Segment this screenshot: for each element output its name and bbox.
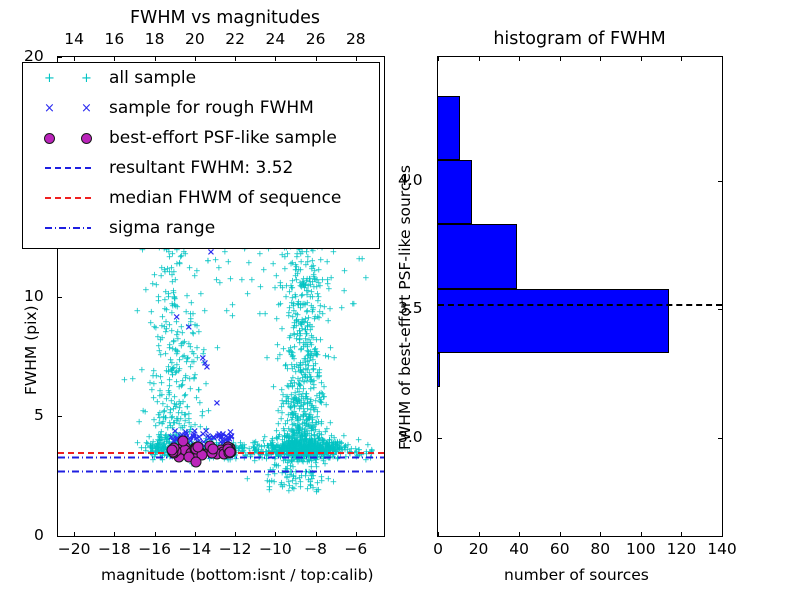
scatter-point-all-sample: +: [141, 408, 149, 417]
histogram-x-tick-label: 100: [622, 540, 660, 558]
scatter-point-all-sample: +: [185, 416, 193, 425]
legend-key-dashed-red: [31, 197, 105, 199]
histogram-title: histogram of FWHM: [437, 29, 722, 49]
scatter-point-all-sample: +: [199, 409, 207, 418]
scatter-point-all-sample: +: [215, 265, 223, 274]
scatter-point-all-sample: +: [275, 302, 283, 311]
scatter-point-all-sample: +: [281, 254, 289, 263]
legend-label: best-effort PSF-like sample: [105, 128, 337, 148]
scatter-top-tick-label: 18: [144, 30, 166, 48]
scatter-point-all-sample: +: [309, 248, 317, 257]
scatter-point-all-sample: +: [291, 320, 299, 329]
scatter-xlabel: magnitude (bottom:isnt / top:calib): [101, 566, 374, 584]
legend-key-plus: ++: [31, 72, 105, 85]
scatter-point-all-sample: +: [216, 280, 224, 289]
scatter-point-all-sample: +: [170, 288, 178, 297]
scatter-bottom-tick-label: −10: [256, 540, 294, 558]
legend-item-5: sigma range: [23, 213, 379, 243]
matplotlib-figure: FWHM vs magnitudes 1416182022242628 −20−…: [0, 0, 800, 600]
legend-item-4: median FHWM of sequence: [23, 183, 379, 213]
scatter-point-all-sample: +: [221, 248, 229, 257]
scatter-point-all-sample: +: [299, 301, 307, 310]
scatter-point-all-sample: +: [283, 394, 291, 403]
scatter-point-all-sample: +: [312, 361, 320, 370]
scatter-point-all-sample: +: [341, 267, 349, 276]
legend-item-3: resultant FWHM: 3.52: [23, 153, 379, 183]
scatter-point-all-sample: +: [197, 291, 205, 300]
histogram-refline-0: [438, 304, 722, 306]
scatter-point-all-sample: +: [315, 280, 323, 289]
scatter-point-rough-sample: ×: [185, 323, 193, 333]
scatter-point-all-sample: +: [152, 282, 160, 291]
scatter-point-all-sample: +: [270, 383, 278, 392]
scatter-point-all-sample: +: [142, 286, 150, 295]
histogram-x-tick-label: 120: [662, 540, 700, 558]
scatter-point-all-sample: +: [152, 325, 160, 334]
scatter-bottom-tick-label: −18: [95, 540, 133, 558]
scatter-point-all-sample: +: [282, 361, 290, 370]
scatter-point-all-sample: +: [158, 391, 166, 400]
cross-marker-icon: ×: [81, 102, 92, 115]
histogram-x-tick-label: 60: [541, 540, 579, 558]
dashdot-blue-line-icon: [45, 227, 91, 229]
scatter-point-all-sample: +: [286, 334, 294, 343]
scatter-point-all-sample: +: [147, 309, 155, 318]
histogram-x-tick-label: 40: [500, 540, 538, 558]
scatter-bottom-tick-label: −6: [337, 540, 375, 558]
scatter-point-all-sample: +: [260, 267, 268, 276]
scatter-point-all-sample: +: [304, 323, 312, 332]
scatter-point-all-sample: +: [202, 381, 210, 390]
scatter-point-all-sample: +: [155, 342, 163, 351]
scatter-point-all-sample: +: [317, 390, 325, 399]
legend-item-0: ++all sample: [23, 63, 379, 93]
scatter-top-tick-label: 26: [305, 30, 327, 48]
plus-marker-icon: +: [81, 72, 92, 85]
scatter-point-all-sample: +: [261, 310, 269, 319]
scatter-top-tick-label: 14: [63, 30, 85, 48]
scatter-ylabel: FWHM (pix): [22, 305, 40, 395]
scatter-point-all-sample: +: [299, 411, 307, 420]
scatter-point-all-sample: +: [325, 286, 333, 295]
scatter-point-all-sample: +: [157, 273, 165, 282]
scatter-point-all-sample: +: [183, 403, 191, 412]
scatter-point-all-sample: +: [227, 275, 235, 284]
scatter-point-all-sample: +: [307, 374, 315, 383]
legend-label: resultant FWHM: 3.52: [105, 158, 293, 178]
scatter-point-all-sample: +: [292, 272, 300, 281]
scatter-point-all-sample: +: [177, 254, 185, 263]
legend-key-dashdot-blue: [31, 227, 105, 229]
scatter-top-tick-label: 20: [184, 30, 206, 48]
scatter-point-all-sample: +: [306, 279, 314, 288]
scatter-point-all-sample: +: [282, 294, 290, 303]
scatter-point-all-sample: +: [310, 384, 318, 393]
scatter-point-all-sample: +: [166, 344, 174, 353]
scatter-point-all-sample: +: [323, 259, 331, 268]
scatter-point-all-sample: +: [268, 477, 276, 486]
legend-key-dashed-blue: [31, 167, 105, 169]
scatter-point-all-sample: +: [350, 301, 358, 310]
scatter-point-all-sample: +: [243, 475, 251, 484]
scatter-point-all-sample: +: [204, 258, 212, 267]
scatter-point-all-sample: +: [129, 375, 137, 384]
scatter-point-all-sample: +: [263, 355, 271, 364]
scatter-point-all-sample: +: [175, 384, 183, 393]
scatter-point-all-sample: +: [190, 375, 198, 384]
scatter-point-all-sample: +: [187, 311, 195, 320]
scatter-point-all-sample: +: [165, 364, 173, 373]
scatter-point-all-sample: +: [179, 339, 187, 348]
scatter-point-all-sample: +: [308, 402, 316, 411]
scatter-point-all-sample: +: [159, 418, 167, 427]
scatter-point-all-sample: +: [330, 479, 338, 488]
histogram-bar: [438, 353, 440, 386]
scatter-point-all-sample: +: [274, 356, 282, 365]
scatter-point-all-sample: +: [187, 300, 195, 309]
scatter-top-tick-label: 24: [264, 30, 286, 48]
scatter-point-all-sample: +: [223, 308, 231, 317]
scatter-point-all-sample: +: [174, 349, 182, 358]
legend-item-1: ××sample for rough FWHM: [23, 93, 379, 123]
scatter-point-all-sample: +: [121, 376, 129, 385]
scatter-point-all-sample: +: [133, 308, 141, 317]
scatter-point-all-sample: +: [278, 326, 286, 335]
histogram-data-area: [438, 57, 722, 536]
histogram-bar: [438, 224, 517, 288]
scatter-point-all-sample: +: [187, 343, 195, 352]
scatter-point-all-sample: +: [193, 394, 201, 403]
scatter-point-all-sample: +: [289, 374, 297, 383]
scatter-point-all-sample: +: [245, 259, 253, 268]
scatter-bottom-tick-label: −16: [136, 540, 174, 558]
scatter-left-tick-label: 0: [34, 526, 44, 544]
dashed-red-line-icon: [45, 197, 91, 199]
scatter-point-all-sample: +: [201, 308, 209, 317]
scatter-bottom-tick-label: −12: [216, 540, 254, 558]
scatter-point-all-sample: +: [292, 310, 300, 319]
scatter-point-rough-sample: ×: [207, 248, 215, 258]
scatter-point-rough-sample: ×: [203, 363, 211, 373]
scatter-bottom-tick-label: −14: [176, 540, 214, 558]
scatter-point-all-sample: +: [244, 290, 252, 299]
scatter-point-all-sample: +: [315, 315, 323, 324]
scatter-point-all-sample: +: [273, 316, 281, 325]
scatter-top-tick-label: 16: [103, 30, 125, 48]
scatter-point-all-sample: +: [326, 305, 334, 314]
scatter-point-all-sample: +: [362, 275, 370, 284]
circle-marker-icon: [81, 133, 92, 144]
histogram-x-tick-label: 140: [703, 540, 741, 558]
scatter-point-all-sample: +: [272, 273, 280, 282]
scatter-point-all-sample: +: [338, 305, 346, 314]
scatter-point-all-sample: +: [158, 380, 166, 389]
scatter-point-all-sample: +: [224, 259, 232, 268]
scatter-point-psf-sample: [207, 444, 218, 455]
histogram-x-tick-label: 20: [460, 540, 498, 558]
scatter-point-all-sample: +: [193, 267, 201, 276]
plus-marker-icon: +: [44, 72, 55, 85]
scatter-point-psf-sample: [167, 444, 178, 455]
scatter-legend: ++all sample××sample for rough FWHMbest-…: [22, 62, 380, 249]
dashed-blue-line-icon: [45, 167, 91, 169]
scatter-point-psf-sample: [177, 436, 188, 447]
scatter-top-tick-label: 22: [224, 30, 246, 48]
histogram-bar: [438, 289, 669, 353]
histogram-x-tick-label: 0: [419, 540, 457, 558]
scatter-point-all-sample: +: [294, 422, 302, 431]
scatter-left-tick-label: 10: [24, 287, 44, 305]
scatter-point-all-sample: +: [256, 250, 264, 259]
scatter-point-all-sample: +: [303, 342, 311, 351]
scatter-point-all-sample: +: [288, 352, 296, 361]
histogram-x-tick-label: 80: [581, 540, 619, 558]
scatter-point-all-sample: +: [271, 285, 279, 294]
legend-label: all sample: [105, 68, 196, 88]
scatter-point-all-sample: +: [327, 344, 335, 353]
scatter-point-all-sample: +: [340, 288, 348, 297]
scatter-point-rough-sample: ×: [213, 399, 221, 409]
scatter-point-psf-sample: [193, 442, 204, 453]
scatter-point-all-sample: +: [322, 353, 330, 362]
scatter-bottom-tick-label: −20: [55, 540, 93, 558]
scatter-point-all-sample: +: [138, 366, 146, 375]
scatter-top-tick-label: 28: [345, 30, 367, 48]
scatter-point-all-sample: +: [214, 344, 222, 353]
scatter-point-all-sample: +: [314, 480, 322, 489]
histogram-ylabel: FWHM of best-effort PSF-like sources: [396, 165, 414, 450]
scatter-title: FWHM vs magnitudes: [60, 8, 390, 28]
scatter-point-all-sample: +: [155, 298, 163, 307]
scatter-point-all-sample: +: [297, 362, 305, 371]
cross-marker-icon: ×: [44, 102, 55, 115]
scatter-point-all-sample: +: [183, 356, 191, 365]
scatter-point-all-sample: +: [287, 404, 295, 413]
scatter-point-all-sample: +: [167, 407, 175, 416]
circle-marker-icon: [44, 133, 55, 144]
scatter-point-all-sample: +: [313, 337, 321, 346]
scatter-point-all-sample: +: [330, 248, 338, 257]
scatter-point-all-sample: +: [297, 478, 305, 487]
scatter-point-all-sample: +: [238, 276, 246, 285]
legend-item-2: best-effort PSF-like sample: [23, 123, 379, 153]
scatter-point-rough-sample: ×: [173, 313, 181, 323]
legend-label: sigma range: [105, 218, 215, 238]
legend-key-dot: [31, 133, 105, 144]
scatter-point-all-sample: +: [168, 301, 176, 310]
scatter-point-psf-sample: [224, 446, 235, 457]
scatter-point-all-sample: +: [152, 422, 160, 431]
legend-label: sample for rough FWHM: [105, 98, 314, 118]
scatter-point-psf-sample: [190, 456, 201, 467]
scatter-left-tick-label: 5: [34, 406, 44, 424]
scatter-point-all-sample: +: [324, 276, 332, 285]
scatter-point-all-sample: +: [355, 255, 363, 264]
legend-label: median FHWM of sequence: [105, 188, 341, 208]
scatter-point-all-sample: +: [248, 276, 256, 285]
histogram-bar: [438, 96, 460, 160]
scatter-point-all-sample: +: [166, 389, 174, 398]
scatter-point-rough-sample: ×: [191, 427, 199, 437]
scatter-bottom-tick-label: −8: [297, 540, 335, 558]
scatter-point-all-sample: +: [285, 478, 293, 487]
histogram-bar: [438, 160, 472, 224]
histogram-xlabel: number of sources: [504, 566, 649, 584]
scatter-point-all-sample: +: [257, 284, 265, 293]
scatter-point-all-sample: +: [135, 418, 143, 427]
legend-key-cross: ××: [31, 102, 105, 115]
scatter-point-all-sample: +: [269, 261, 277, 270]
scatter-point-all-sample: +: [330, 355, 338, 364]
scatter-point-all-sample: +: [292, 294, 300, 303]
scatter-point-all-sample: +: [309, 294, 317, 303]
